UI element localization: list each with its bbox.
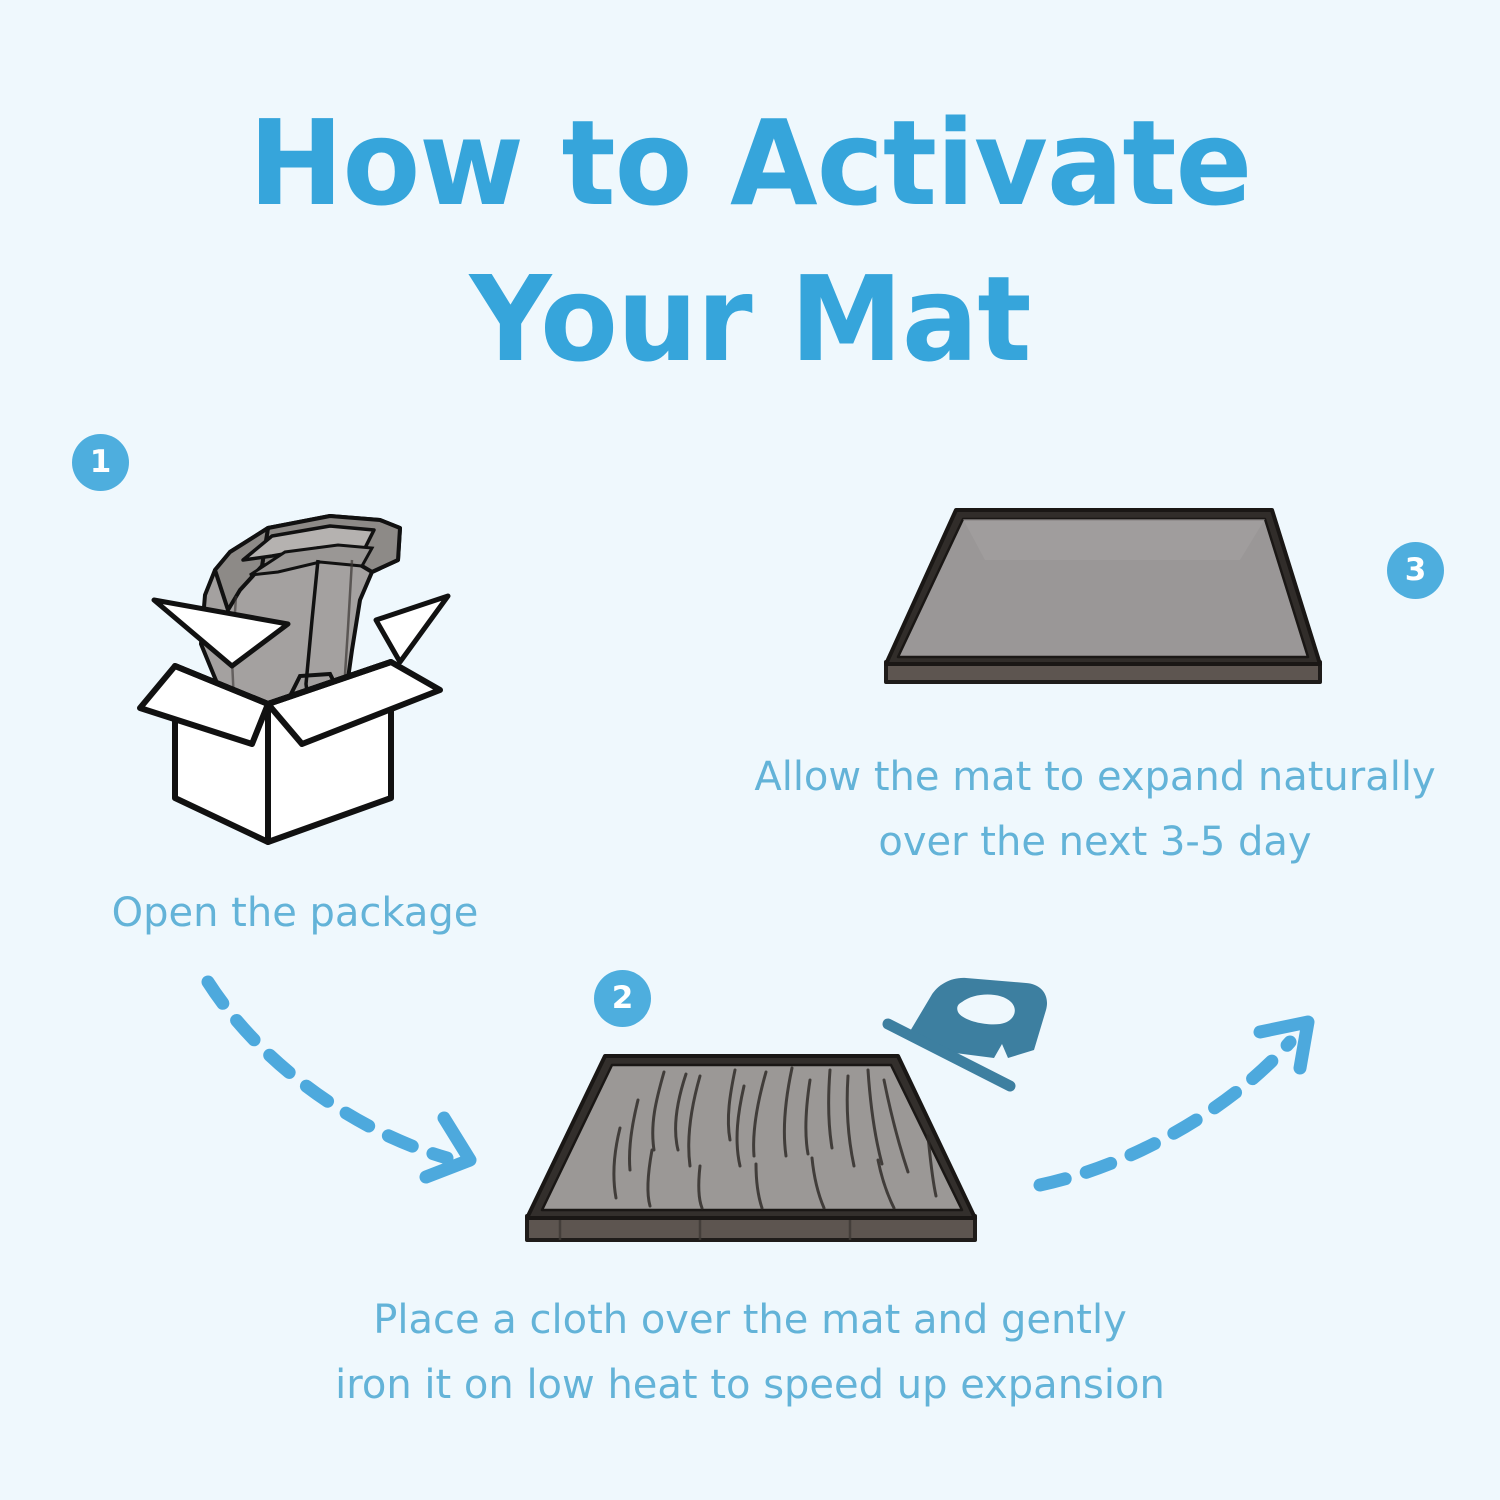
open-box-illustration bbox=[140, 516, 448, 842]
infographic-canvas: How to Activate Your Mat bbox=[0, 0, 1500, 1500]
page-title-line-2: Your Mat bbox=[30, 242, 1470, 398]
box-flap-front-left bbox=[140, 666, 268, 744]
step-3-caption-line-2: over the next 3-5 day bbox=[700, 810, 1490, 875]
box-flap-back-right bbox=[376, 596, 448, 662]
box-flap-front-right bbox=[268, 662, 440, 744]
step-3-caption-line-1: Allow the mat to expand naturally bbox=[700, 745, 1490, 810]
box-flap-back-left bbox=[154, 600, 288, 666]
step-3-caption: Allow the mat to expand naturally over t… bbox=[700, 745, 1490, 875]
expanded-mat-illustration bbox=[886, 510, 1320, 682]
page-title: How to Activate Your Mat bbox=[0, 86, 1500, 398]
box-side-left bbox=[175, 666, 268, 842]
page-title-line-1: How to Activate bbox=[30, 86, 1470, 242]
arrow-step2-to-step3 bbox=[1040, 1022, 1308, 1185]
iron-icon bbox=[888, 978, 1047, 1086]
step-badge-2: 2 bbox=[594, 970, 651, 1027]
vacuum-packed-mat-bag bbox=[201, 516, 400, 716]
arrow-step1-to-step2 bbox=[208, 982, 470, 1177]
step-1-caption-line-1: Open the package bbox=[40, 881, 550, 946]
wrinkled-mat-illustration bbox=[527, 1056, 975, 1240]
step-2-caption-line-2: iron it on low heat to speed up expansio… bbox=[250, 1353, 1250, 1418]
step-badge-1: 1 bbox=[72, 434, 129, 491]
mat-wrinkles bbox=[614, 1068, 936, 1208]
step-1-caption: Open the package bbox=[40, 881, 550, 946]
box-side-right bbox=[268, 662, 391, 842]
step-badge-3: 3 bbox=[1387, 542, 1444, 599]
step-2-caption: Place a cloth over the mat and gently ir… bbox=[250, 1288, 1250, 1418]
step-2-caption-line-1: Place a cloth over the mat and gently bbox=[250, 1288, 1250, 1353]
